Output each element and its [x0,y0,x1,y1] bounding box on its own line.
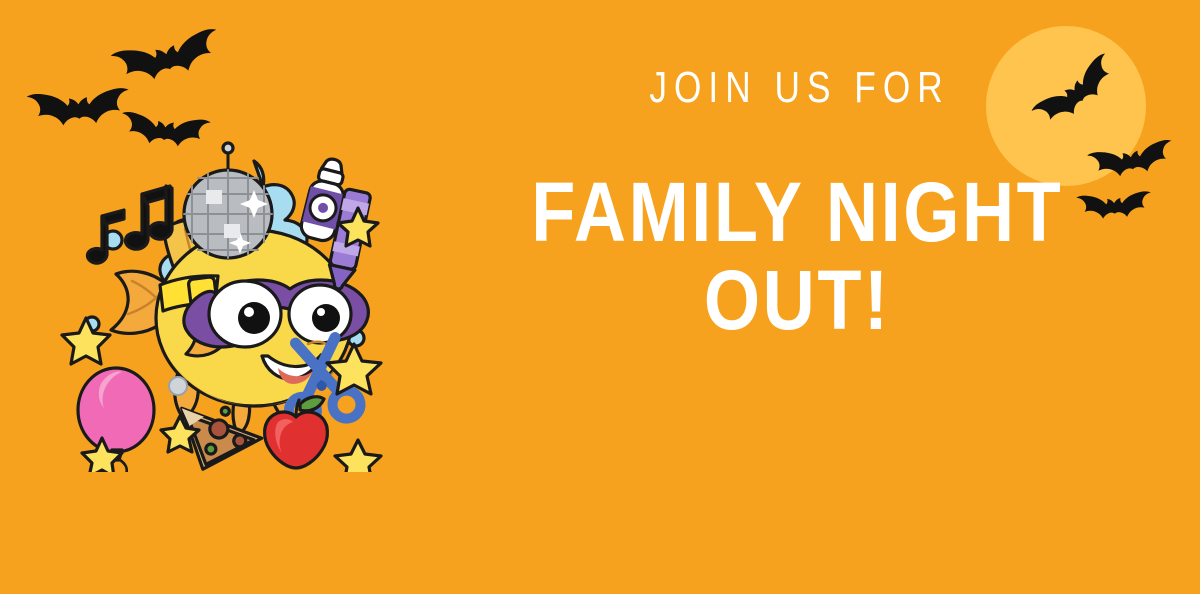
banner-copy: JOIN US FOR FAMILY NIGHT OUT! [476,62,1116,344]
headline-line-2: OUT! [521,256,1071,344]
page-title: FAMILY NIGHT OUT! [521,168,1071,344]
eyebrow-text: JOIN US FOR [540,62,1052,114]
headline-line-1: FAMILY NIGHT [521,168,1071,256]
bat-icon [106,19,236,112]
promo-banner: JOIN US FOR FAMILY NIGHT OUT! [0,0,1200,594]
goldfish-mascot-illustration [58,128,402,472]
